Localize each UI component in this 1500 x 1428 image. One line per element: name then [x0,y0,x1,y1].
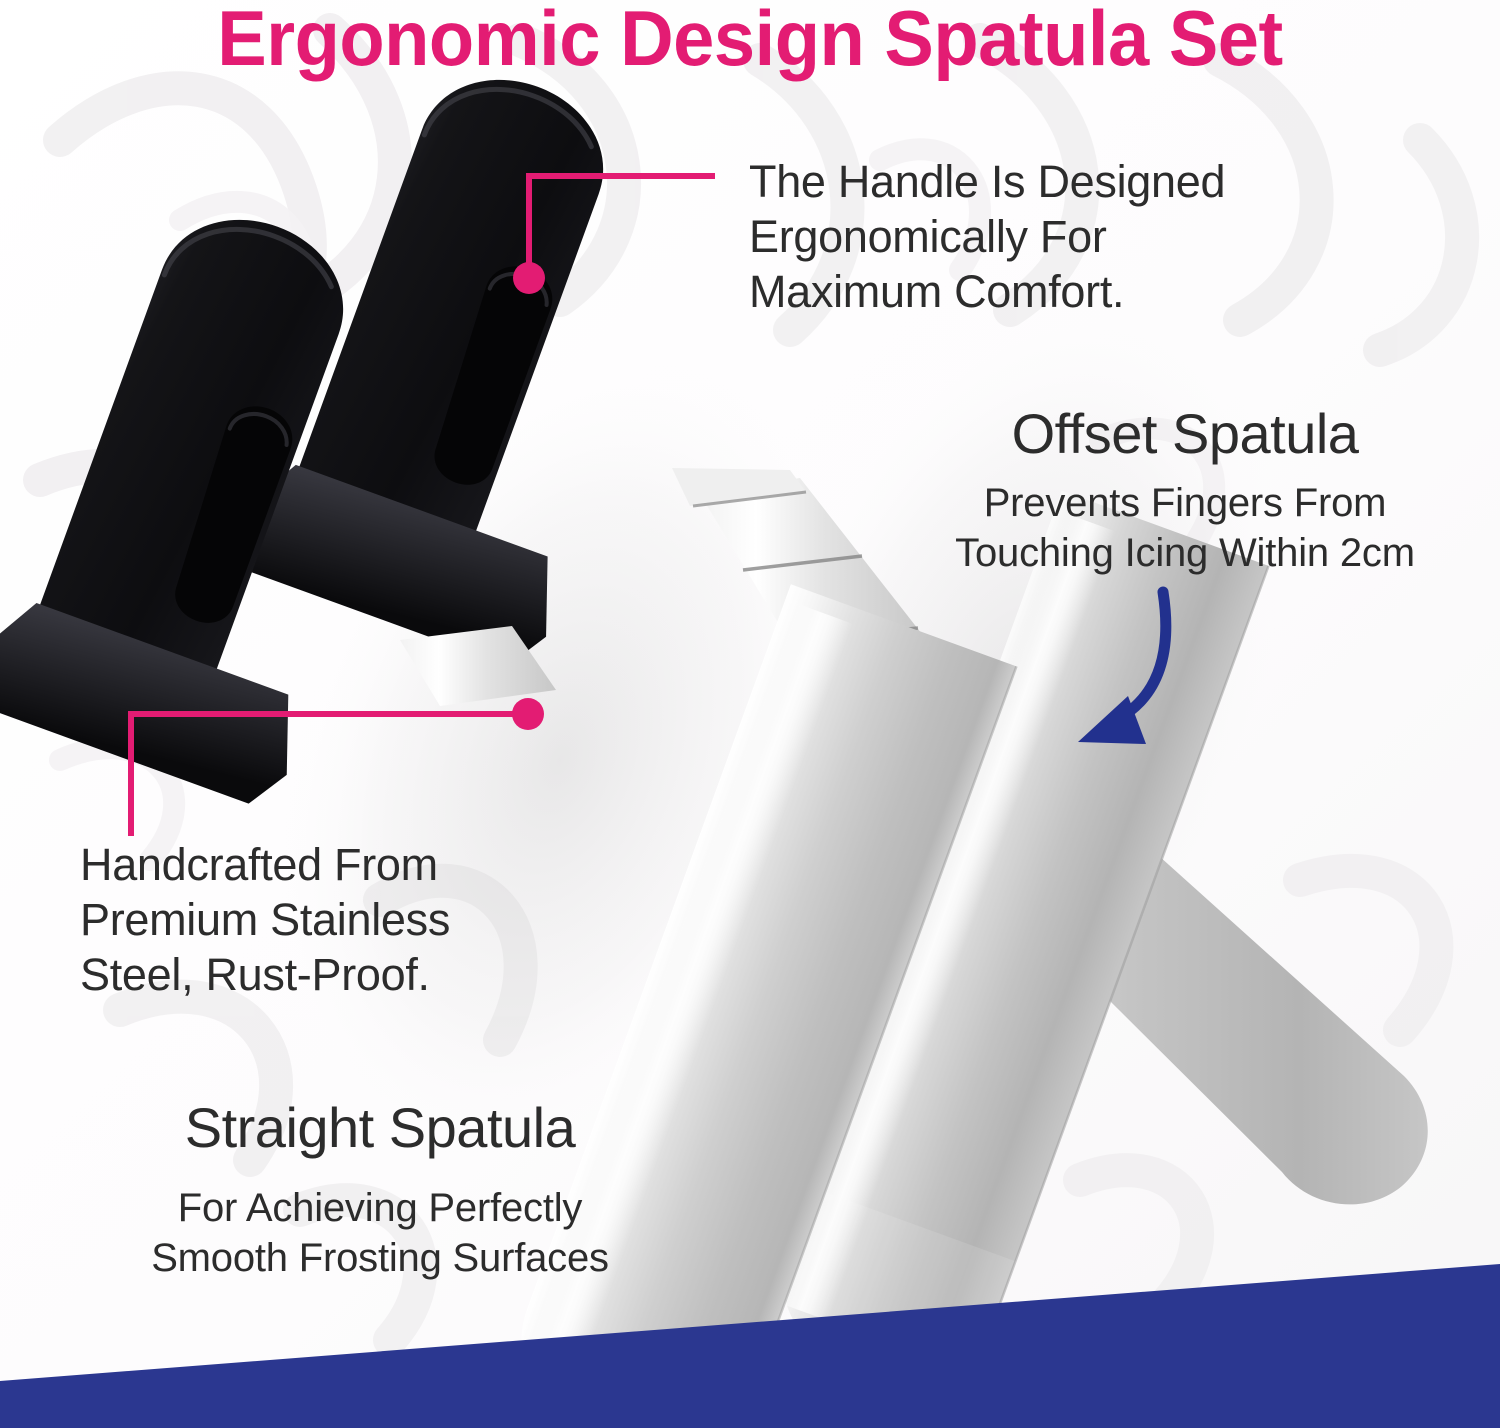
curved-arrow-icon [1078,592,1166,744]
offset-blade-shape [792,676,1410,1204]
offset-neck [672,468,925,672]
straight-spatula-heading: Straight Spatula [90,1098,670,1158]
offset-handle [215,38,722,674]
offset-blade-group [754,491,1269,1412]
offset-blade [793,688,1414,1186]
handle-callout-dot [513,262,545,294]
steel-callout-dot [512,698,544,730]
straight-neck [400,626,556,706]
straight-handle [0,178,462,812]
offset-spatula-subtext: Prevents Fingers From Touching Icing Wit… [890,478,1480,578]
steel-callout-leader [131,698,544,833]
straight-blade-group [491,584,1016,1428]
straight-spatula-subtext: For Achieving Perfectly Smooth Frosting … [85,1183,675,1283]
infographic-canvas: Ergonomic Design Spatula Set [0,0,1500,1428]
handle-callout-text: The Handle Is Designed Ergonomically For… [749,155,1309,320]
handle-callout-leader [513,176,712,294]
product-shadows [172,220,1389,1244]
offset-blade-body [787,680,1428,1204]
steel-callout-text: Handcrafted From Premium Stainless Steel… [80,838,560,1003]
page-title: Ergonomic Design Spatula Set [38,0,1463,80]
offset-spatula-heading: Offset Spatula [900,404,1470,464]
